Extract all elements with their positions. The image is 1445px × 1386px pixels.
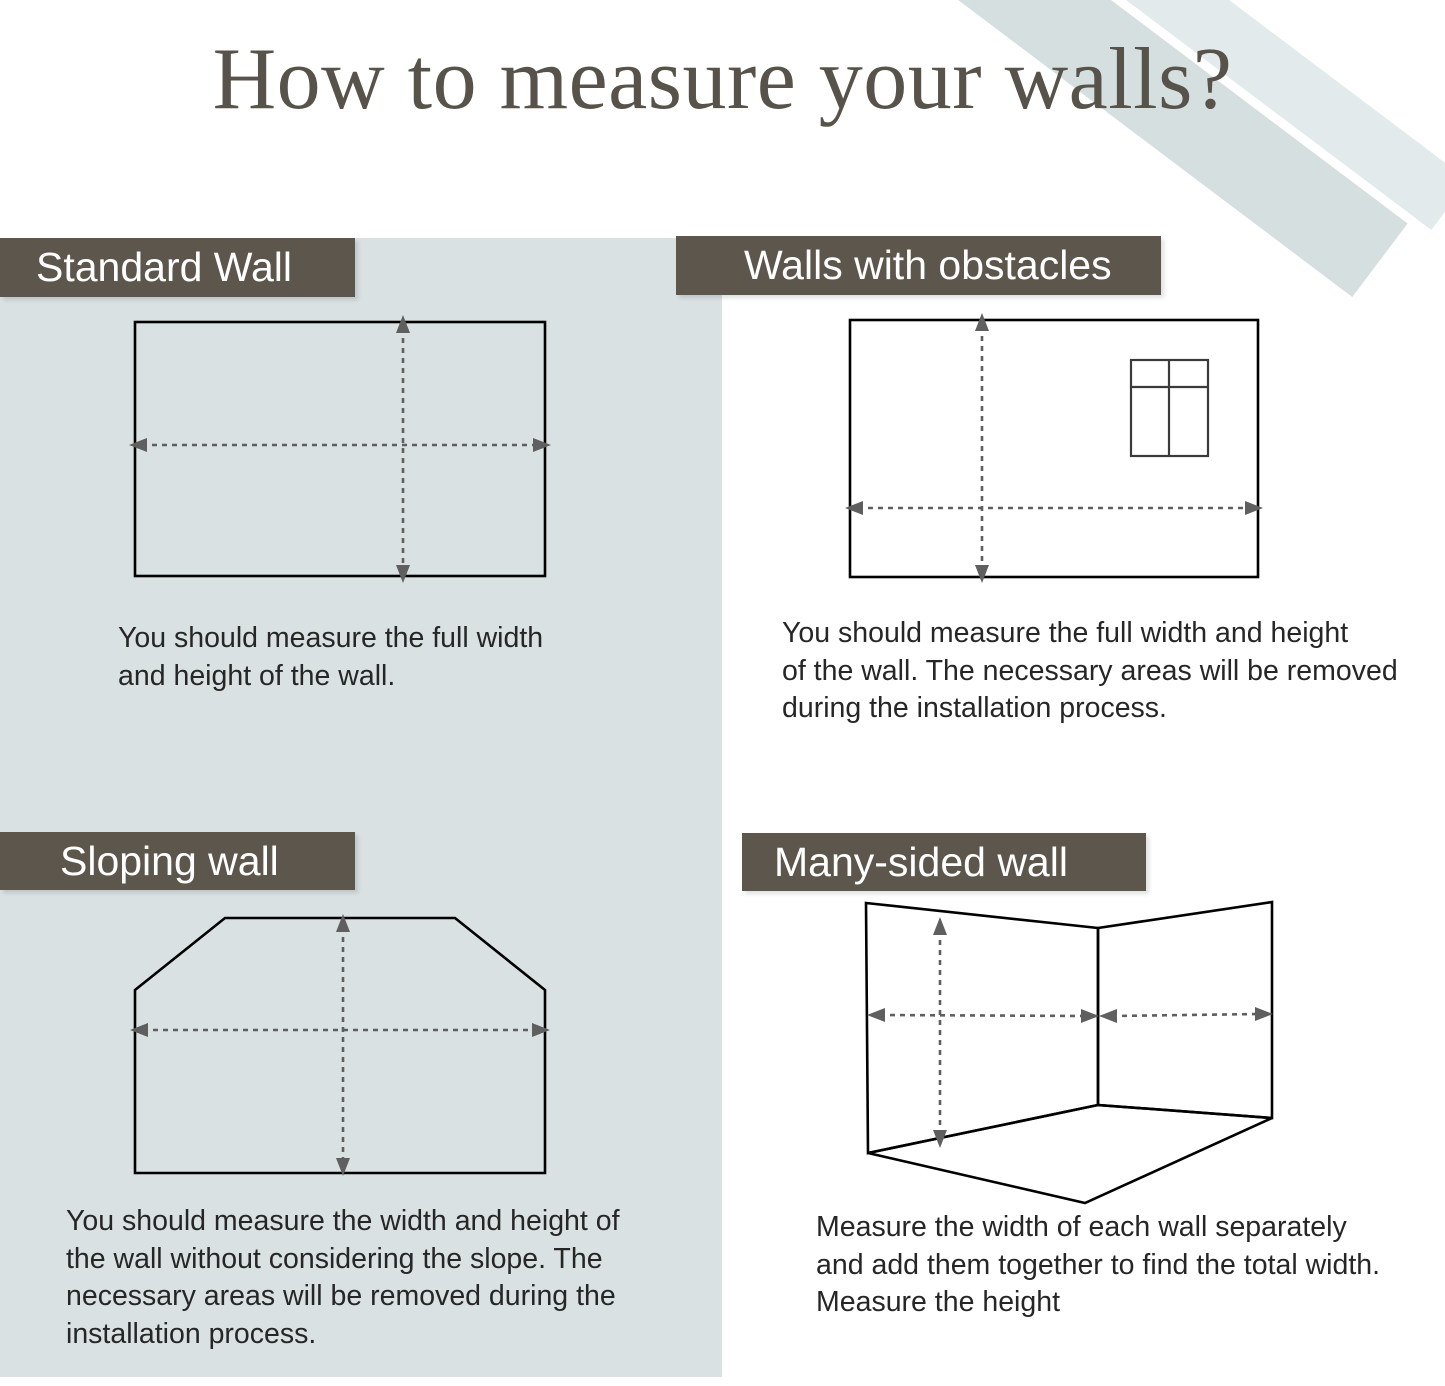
infographic-page: How to measure your walls? Standard Wall… xyxy=(0,0,1445,1386)
section-header-standard-wall: Standard Wall xyxy=(0,238,355,297)
window-obstacle-icon xyxy=(1131,360,1208,456)
caption-many-sided-wall: Measure the width of each wall separatel… xyxy=(816,1209,1426,1322)
page-title: How to measure your walls? xyxy=(0,34,1445,126)
section-header-label: Sloping wall xyxy=(60,838,279,885)
diagram-sloping-wall xyxy=(110,895,580,1195)
diagram-standard-wall xyxy=(110,300,580,600)
diagram-many-sided-wall xyxy=(840,885,1310,1215)
section-header-label: Walls with obstacles xyxy=(744,242,1112,289)
section-header-sloping-wall: Sloping wall xyxy=(0,832,355,890)
section-header-label: Many-sided wall xyxy=(774,839,1068,886)
caption-standard-wall: You should measure the full width and he… xyxy=(118,620,638,695)
section-header-many-sided-wall: Many-sided wall xyxy=(742,833,1146,891)
diagram-walls-with-obstacles xyxy=(830,300,1300,600)
caption-sloping-wall: You should measure the width and height … xyxy=(66,1203,666,1353)
caption-walls-with-obstacles: You should measure the full width and he… xyxy=(782,615,1412,728)
section-header-walls-with-obstacles: Walls with obstacles xyxy=(676,236,1161,295)
section-header-label: Standard Wall xyxy=(36,244,292,291)
